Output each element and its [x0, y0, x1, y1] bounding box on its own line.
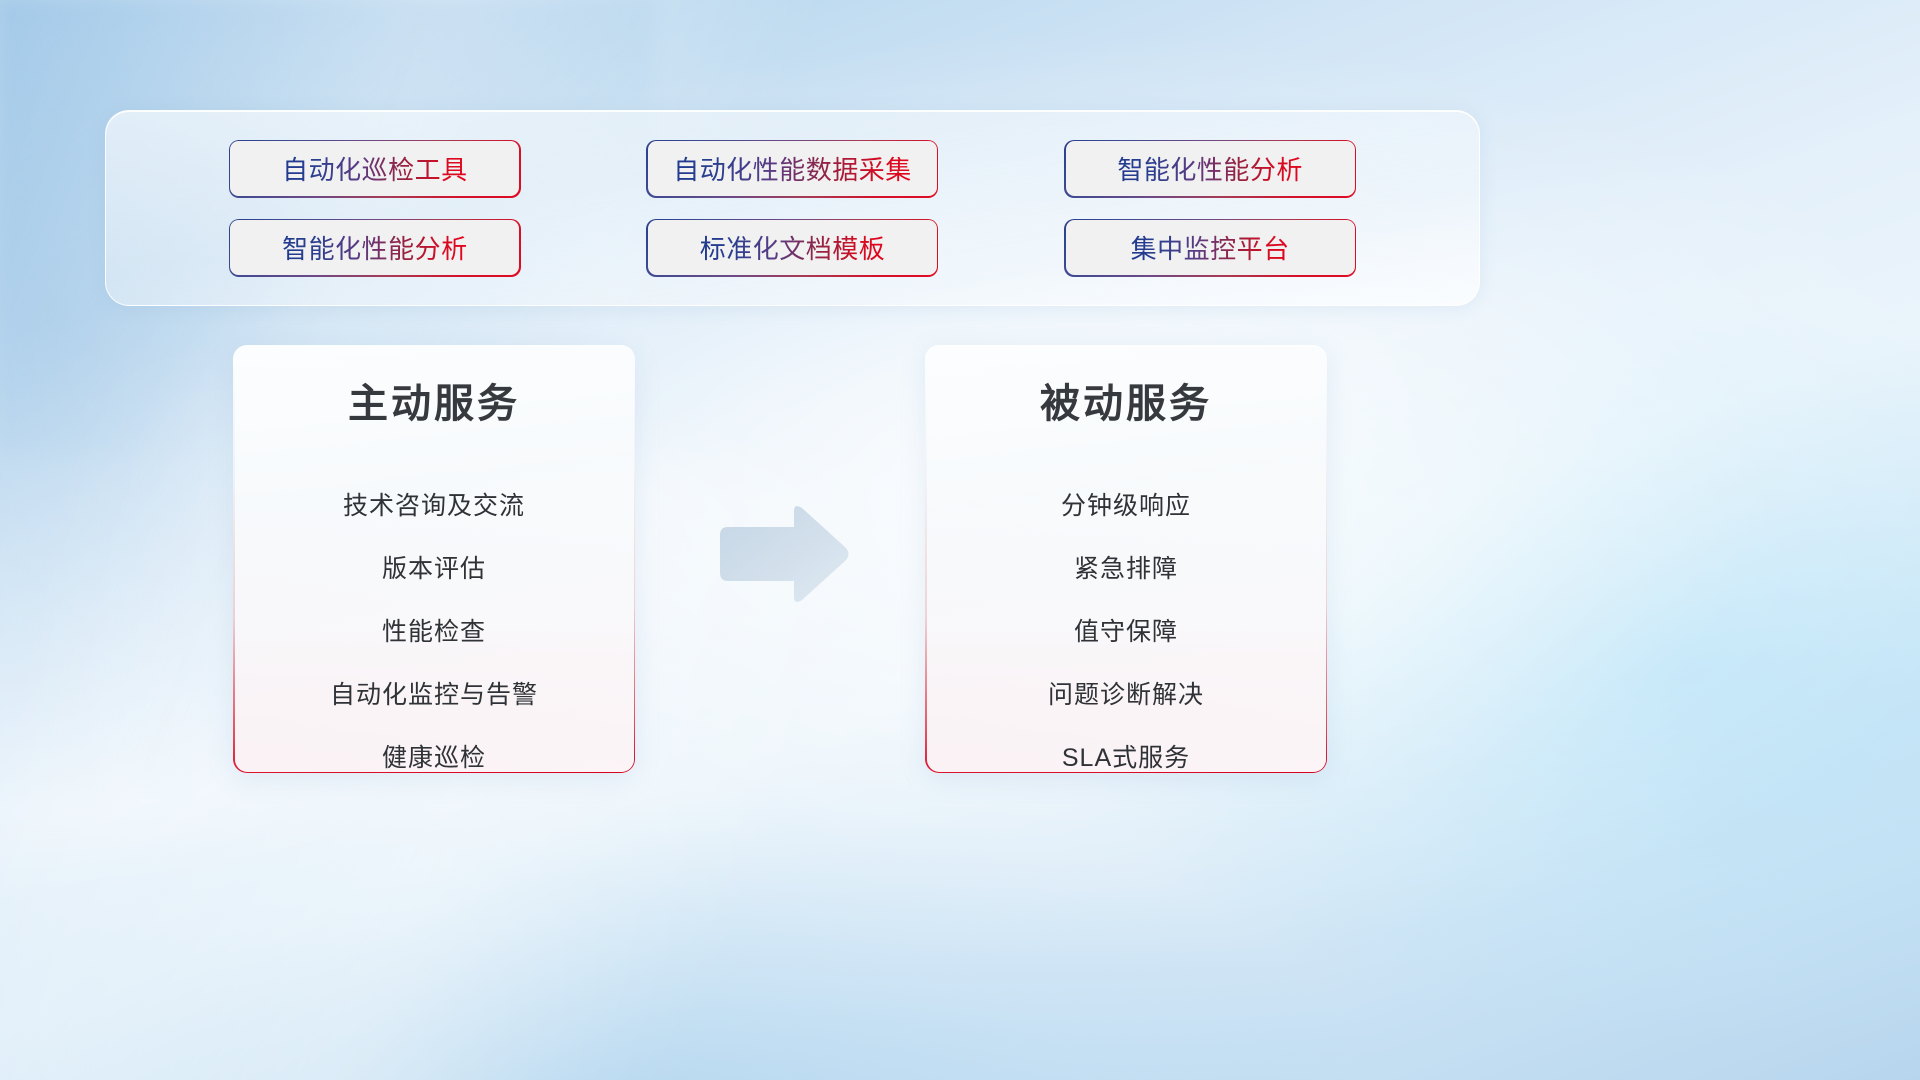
list-item: 值守保障 [1074, 601, 1178, 664]
capability-panel: 自动化巡检工具 自动化性能数据采集 智能化性能分析 智能化性能分析 标准化文档模… [105, 110, 1480, 306]
slide-canvas: 自动化巡检工具 自动化性能数据采集 智能化性能分析 智能化性能分析 标准化文档模… [0, 0, 1920, 1080]
capability-pill-6-body: 集中监控平台 [1066, 220, 1355, 275]
list-item: 健康巡检 [382, 727, 486, 790]
capability-pill-6[interactable]: 集中监控平台 [1064, 219, 1356, 277]
list-item: 分钟级响应 [1061, 475, 1191, 538]
list-item: 版本评估 [382, 538, 486, 601]
capability-pill-5-body: 标准化文档模板 [648, 220, 937, 275]
service-card-reactive-list: 分钟级响应 紧急排障 值守保障 问题诊断解决 SLA式服务 [953, 475, 1300, 790]
capability-pill-3-label: 智能化性能分析 [1117, 150, 1303, 187]
capability-pill-1-label: 自动化巡检工具 [282, 150, 468, 187]
service-card-proactive-title: 主动服务 [348, 379, 520, 429]
service-card-proactive-list: 技术咨询及交流 版本评估 性能检查 自动化监控与告警 健康巡检 [261, 475, 608, 790]
capability-pill-3[interactable]: 智能化性能分析 [1064, 140, 1356, 198]
service-card-reactive-body: 被动服务 分钟级响应 紧急排障 值守保障 问题诊断解决 SLA式服务 [927, 347, 1326, 772]
list-item: 自动化监控与告警 [330, 664, 538, 727]
capability-pill-2-label: 自动化性能数据采集 [673, 150, 912, 187]
arrow-right-icon [712, 503, 852, 606]
capability-pill-5[interactable]: 标准化文档模板 [646, 219, 938, 277]
list-item: 性能检查 [382, 601, 486, 664]
list-item: SLA式服务 [1062, 727, 1190, 790]
capability-pill-4-body: 智能化性能分析 [230, 220, 519, 275]
service-card-proactive-body: 主动服务 技术咨询及交流 版本评估 性能检查 自动化监控与告警 健康巡检 [235, 347, 634, 772]
service-card-proactive[interactable]: 主动服务 技术咨询及交流 版本评估 性能检查 自动化监控与告警 健康巡检 [233, 345, 635, 773]
capability-pill-5-label: 标准化文档模板 [700, 229, 886, 266]
list-item: 问题诊断解决 [1048, 664, 1204, 727]
list-item: 紧急排障 [1074, 538, 1178, 601]
capability-pill-2-body: 自动化性能数据采集 [648, 141, 937, 196]
capability-pill-1-body: 自动化巡检工具 [230, 141, 519, 196]
capability-pill-1[interactable]: 自动化巡检工具 [229, 140, 521, 198]
capability-pill-4[interactable]: 智能化性能分析 [229, 219, 521, 277]
capability-pill-2[interactable]: 自动化性能数据采集 [646, 140, 938, 198]
service-card-reactive-title: 被动服务 [1040, 379, 1212, 429]
capability-pill-4-label: 智能化性能分析 [282, 229, 468, 266]
capability-pill-3-body: 智能化性能分析 [1066, 141, 1355, 196]
list-item: 技术咨询及交流 [343, 475, 525, 538]
service-card-reactive[interactable]: 被动服务 分钟级响应 紧急排障 值守保障 问题诊断解决 SLA式服务 [925, 345, 1327, 773]
capability-pill-6-label: 集中监控平台 [1131, 229, 1290, 266]
